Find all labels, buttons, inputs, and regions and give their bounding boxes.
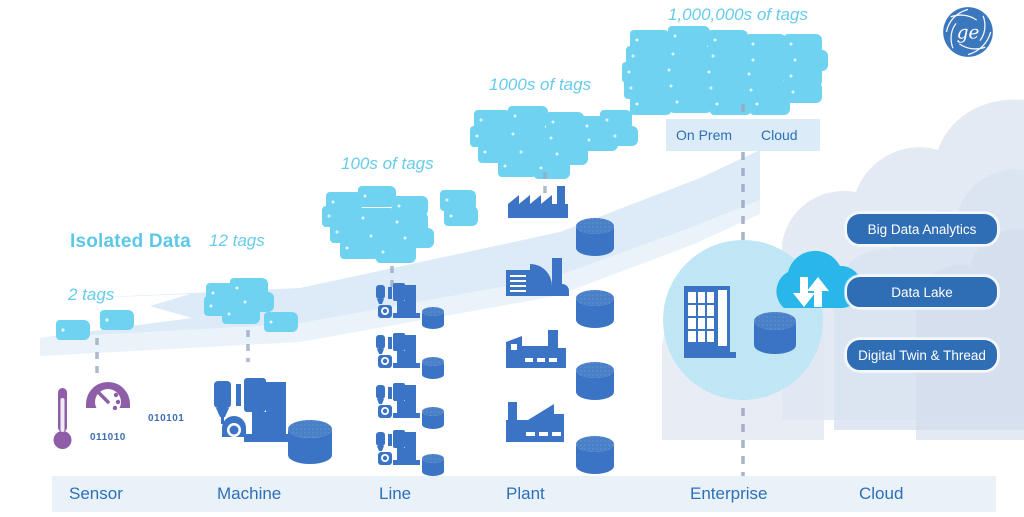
robot-cell-unit-3 [376,383,444,429]
thermometer-icon [54,388,72,449]
machine-icons [214,378,332,464]
svg-text:ge: ge [957,22,980,43]
tag-cluster-line [322,186,478,263]
axis-label-cloud: Cloud [859,484,903,504]
factory-icon-1 [508,186,568,218]
cloud-service-digital-twin-thread[interactable]: Digital Twin & Thread [845,338,999,372]
tag-count-plant: 1000s of tags [489,75,591,95]
tag-cluster-plant [470,106,618,179]
enterprise-db-icon [754,312,796,354]
plant-icons [506,186,614,474]
gauge-icon [86,382,130,415]
binary-stream-b: 011010 [90,432,126,443]
axis-label-enterprise: Enterprise [690,484,767,504]
tag-count-machine: 12 tags [209,231,265,251]
axis-label-machine: Machine [217,484,281,504]
cnc-machine-icon [214,378,292,442]
robot-cell-unit-2 [376,333,444,379]
plant-db-4 [576,436,614,474]
axis-label-line: Line [379,484,411,504]
axis-label-plant: Plant [506,484,545,504]
plant-db-3 [576,362,614,400]
cloud-service-data-lake[interactable]: Data Lake [845,275,999,309]
binary-stream-a: 010101 [148,413,184,424]
plant-db-2 [576,290,614,328]
deployment-label-cloud: Cloud [761,127,798,143]
database-cylinder-icon [288,420,332,464]
tag-count-enterprise: 1,000,000s of tags [668,5,808,25]
robot-cell-unit-4 [376,430,444,476]
factory-icon-4 [506,402,564,442]
factory-icon-3 [506,330,566,368]
page-title: Isolated Data [70,231,191,253]
tag-count-line: 100s of tags [341,154,434,174]
ge-monogram-logo: ge [941,5,995,59]
tag-count-sensor: 2 tags [68,285,114,305]
line-icons [376,283,444,476]
deployment-label-on-prem: On Prem [676,127,732,143]
infographic-canvas: Isolated Data 2 tags 12 tags 100s of tag… [0,0,1024,517]
plant-db-1 [576,218,614,256]
axis-label-sensor: Sensor [69,484,123,504]
office-building-icon [684,286,736,358]
cloud-service-big-data-analytics[interactable]: Big Data Analytics [845,212,999,246]
